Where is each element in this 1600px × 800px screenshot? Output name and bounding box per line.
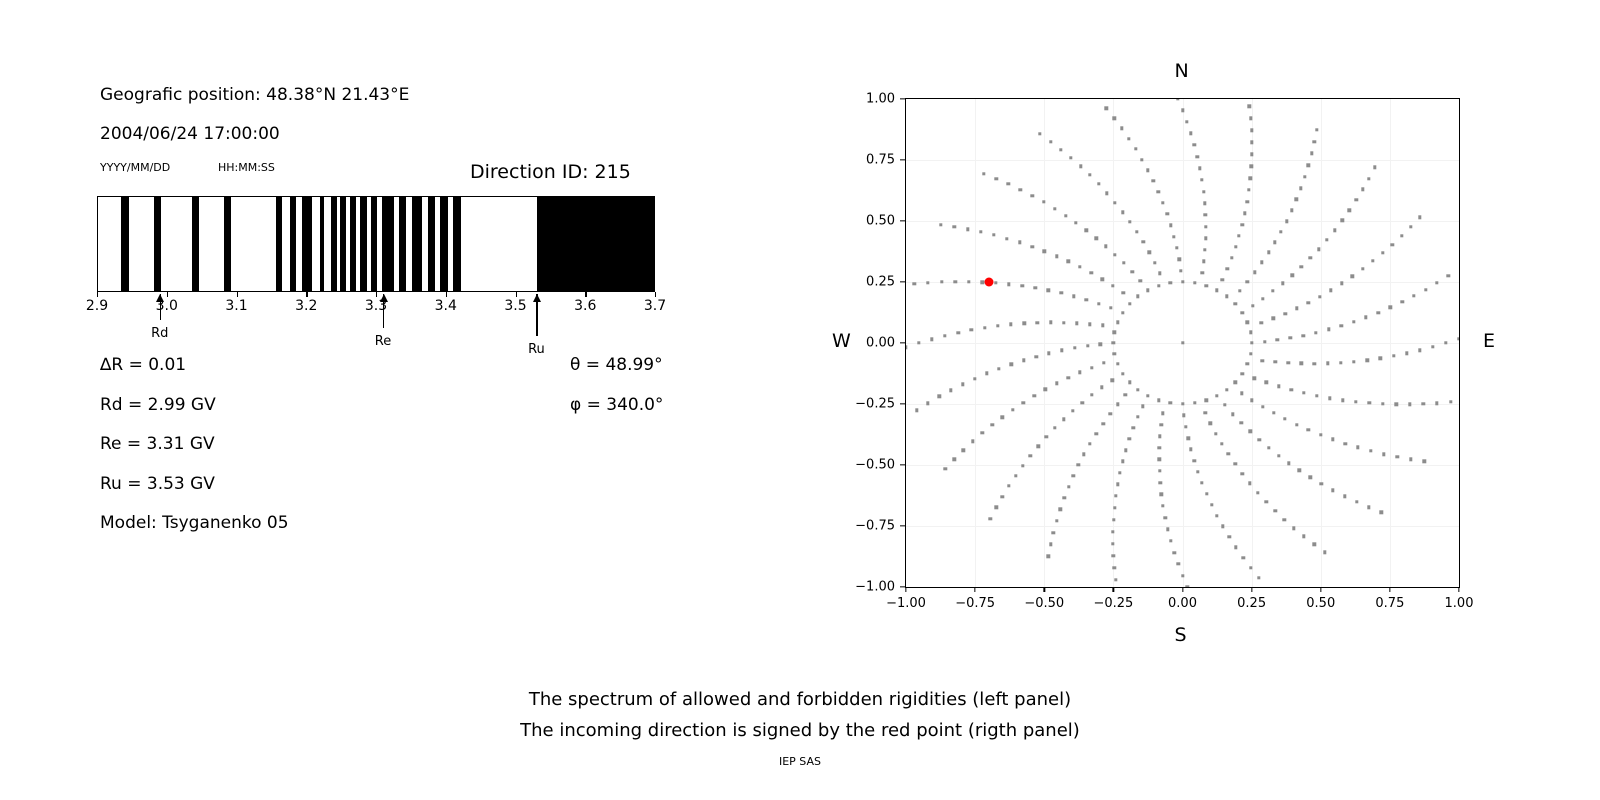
direction-sample-dot xyxy=(1157,284,1160,287)
direction-sample-dot xyxy=(1238,289,1241,292)
direction-sample-dot xyxy=(1086,344,1089,347)
direction-sample-dot xyxy=(1127,137,1130,140)
direction-sample-dot xyxy=(1267,446,1270,449)
polar-y-tick-label: 0.00 xyxy=(820,336,895,351)
datetime-label: 2004/06/24 17:00:00 xyxy=(100,124,280,144)
direction-sample-dot xyxy=(1284,312,1287,315)
direction-sample-dot xyxy=(1352,360,1355,363)
direction-sample-dot xyxy=(1263,340,1266,343)
direction-sample-dot xyxy=(1249,176,1252,179)
direction-sample-dot xyxy=(1313,140,1316,143)
direction-sample-dot xyxy=(1418,349,1421,352)
direction-sample-dot xyxy=(1161,504,1164,507)
direction-sample-dot xyxy=(1243,211,1246,214)
direction-sample-dot xyxy=(1237,234,1240,237)
direction-sample-dot xyxy=(1059,291,1062,294)
direction-sample-dot xyxy=(1291,274,1294,277)
direction-sample-dot xyxy=(1302,391,1305,394)
direction-sample-dot xyxy=(1215,514,1218,517)
direction-sample-dot xyxy=(1072,295,1075,298)
polar-x-tick-mark xyxy=(905,587,906,592)
direction-sample-dot xyxy=(1210,503,1213,506)
direction-sample-dot xyxy=(1302,535,1305,538)
direction-sample-dot xyxy=(1116,403,1119,406)
polar-x-tick-label: 0.25 xyxy=(1237,596,1266,611)
forbidden-band xyxy=(382,197,394,291)
direction-sample-dot xyxy=(1181,341,1184,344)
direction-sample-dot xyxy=(1114,494,1117,497)
direction-sample-dot xyxy=(1248,430,1251,433)
direction-sample-dot xyxy=(1067,485,1070,488)
direction-sample-dot xyxy=(1367,177,1370,180)
direction-sample-dot xyxy=(1265,381,1268,384)
figure-caption: The spectrum of allowed and forbidden ri… xyxy=(0,684,1600,746)
direction-sample-dot xyxy=(1315,394,1318,397)
direction-sample-dot xyxy=(1074,221,1077,224)
direction-sample-dot xyxy=(1169,281,1172,284)
direction-sample-dot xyxy=(979,230,982,233)
forbidden-band xyxy=(154,197,161,291)
direction-sample-dot xyxy=(1204,284,1207,287)
direction-sample-dot xyxy=(1258,438,1261,441)
caption-line-1: The spectrum of allowed and forbidden ri… xyxy=(0,684,1600,715)
direction-sample-dot xyxy=(1261,405,1264,408)
delta-r-value: ∆R = 0.01 xyxy=(100,355,186,375)
direction-sample-dot xyxy=(994,177,997,180)
direction-sample-dot xyxy=(1203,202,1206,205)
direction-sample-dot xyxy=(991,423,994,426)
direction-sample-dot xyxy=(1159,481,1162,484)
direction-sample-dot xyxy=(1205,492,1208,495)
ru-value: Ru = 3.53 GV xyxy=(100,474,215,494)
direction-sample-dot xyxy=(1113,506,1116,509)
direction-sample-dot xyxy=(1246,320,1249,323)
forbidden-band xyxy=(412,197,422,291)
direction-sample-dot xyxy=(1196,155,1199,158)
polar-y-tick-mark xyxy=(900,98,905,99)
direction-sample-dot xyxy=(1250,141,1253,144)
direction-sample-dot xyxy=(992,233,995,236)
forbidden-band xyxy=(350,197,356,291)
direction-sample-dot xyxy=(1381,251,1384,254)
direction-sample-dot xyxy=(1036,444,1039,447)
direction-sample-dot xyxy=(1202,190,1205,193)
direction-sample-dot xyxy=(1053,207,1056,210)
direction-sample-dot xyxy=(1271,289,1274,292)
axis-tick-mark xyxy=(376,292,377,297)
direction-sample-dot xyxy=(1209,422,1212,425)
polar-y-tick-mark xyxy=(900,342,905,343)
forbidden-band xyxy=(371,197,377,291)
direction-sample-dot xyxy=(1021,464,1024,467)
direction-sample-dot xyxy=(1044,388,1047,391)
direction-sample-dot xyxy=(1109,412,1112,415)
direction-sample-dot xyxy=(1011,408,1014,411)
re-value: Re = 3.31 GV xyxy=(100,434,215,454)
direction-sample-dot xyxy=(1163,516,1166,519)
direction-sample-dot xyxy=(1289,336,1292,339)
direction-sample-dot xyxy=(1307,428,1310,431)
direction-sample-dot xyxy=(1010,363,1013,366)
direction-sample-dot xyxy=(1356,446,1359,449)
direction-sample-dot xyxy=(1260,261,1263,264)
direction-sample-dot xyxy=(1276,338,1279,341)
direction-sample-dot xyxy=(1196,470,1199,473)
direction-sample-dot xyxy=(1286,361,1289,364)
direction-sample-dot xyxy=(1204,237,1207,240)
direction-sample-dot xyxy=(1285,220,1288,223)
date-format-hint: YYYY/MM/DD xyxy=(100,161,170,174)
polar-x-tick-label: −0.50 xyxy=(1024,596,1064,611)
direction-sample-dot xyxy=(1077,463,1080,466)
polar-x-tick-mark xyxy=(1320,587,1321,592)
forbidden-band xyxy=(320,197,325,291)
polar-x-tick-label: 0.75 xyxy=(1375,596,1404,611)
direction-sample-dot xyxy=(997,367,1000,370)
polar-y-tick-label: 0.50 xyxy=(820,214,895,229)
direction-sample-dot xyxy=(1034,286,1037,289)
rigidity-marker-arrow-rd xyxy=(160,294,161,320)
direction-sample-dot xyxy=(1292,526,1295,529)
forbidden-band xyxy=(428,197,435,291)
direction-sample-dot xyxy=(915,409,918,412)
direction-sample-dot xyxy=(953,225,956,228)
direction-sample-dot xyxy=(944,467,947,470)
direction-sample-dot xyxy=(1158,469,1161,472)
direction-sample-dot xyxy=(1035,355,1038,358)
direction-sample-dot xyxy=(1049,321,1052,324)
direction-sample-dot xyxy=(1231,412,1234,415)
forbidden-band xyxy=(192,197,199,291)
direction-sample-dot xyxy=(1279,230,1282,233)
direction-sample-dot xyxy=(1257,576,1260,579)
direction-sample-dot xyxy=(1323,550,1326,553)
direction-sample-dot xyxy=(1394,403,1397,406)
direction-sample-dot xyxy=(1193,401,1196,404)
axis-tick-label: 3.6 xyxy=(574,298,596,314)
direction-sample-dot xyxy=(1169,401,1172,404)
direction-sample-dot xyxy=(1111,284,1114,287)
direction-sample-dot xyxy=(1249,566,1252,569)
axis-tick-mark xyxy=(655,292,656,297)
direction-sample-dot xyxy=(1158,446,1161,449)
direction-sample-dot xyxy=(1176,98,1179,101)
polar-y-tick-label: 1.00 xyxy=(820,92,895,107)
direction-sample-dot xyxy=(1373,166,1376,169)
direction-sample-dot xyxy=(1248,482,1251,485)
direction-sample-dot xyxy=(1295,423,1298,426)
rigidity-marker-arrow-ru xyxy=(536,294,537,336)
direction-sample-dot xyxy=(1283,518,1286,521)
direction-sample-dot xyxy=(1234,245,1237,248)
direction-sample-dot xyxy=(1241,556,1244,559)
direction-sample-dot xyxy=(1157,190,1160,193)
direction-sample-dot xyxy=(1318,295,1321,298)
direction-sample-dot xyxy=(1352,320,1355,323)
direction-sample-dot xyxy=(1128,302,1131,305)
direction-sample-dot xyxy=(1186,585,1189,588)
polar-x-tick-label: 1.00 xyxy=(1445,596,1474,611)
direction-sample-dot xyxy=(1114,578,1117,581)
direction-sample-dot xyxy=(1101,324,1104,327)
direction-sample-dot xyxy=(943,334,946,337)
direction-sample-dot xyxy=(1307,301,1310,304)
direction-sample-dot xyxy=(1113,253,1116,256)
polar-x-tick-mark xyxy=(1251,587,1252,592)
direction-sample-dot xyxy=(1325,238,1328,241)
direction-sample-dot xyxy=(1116,483,1119,486)
direction-sample-dot xyxy=(1007,484,1010,487)
direction-sample-dot xyxy=(1283,417,1286,420)
direction-sample-dot xyxy=(1400,234,1403,237)
direction-sample-dot xyxy=(1333,229,1336,232)
direction-sample-dot xyxy=(1361,188,1364,191)
direction-sample-dot xyxy=(1055,519,1058,522)
direction-sample-dot xyxy=(1169,224,1172,227)
axis-tick-label: 3.5 xyxy=(504,298,526,314)
direction-sample-dot xyxy=(1317,247,1320,250)
direction-sample-dot xyxy=(1371,259,1374,262)
direction-sample-dot xyxy=(1095,432,1098,435)
polar-y-tick-mark xyxy=(900,281,905,282)
rigidity-spectrum-panel: Geografic position: 48.38°N 21.43°E 2004… xyxy=(0,0,760,640)
direction-sample-dot xyxy=(1090,366,1093,369)
direction-sample-dot xyxy=(1014,474,1017,477)
direction-sample-dot xyxy=(1079,165,1082,168)
model-value: Model: Tsyganenko 05 xyxy=(100,513,289,533)
direction-sample-dot xyxy=(1368,401,1371,404)
axis-tick-label: 3.4 xyxy=(435,298,457,314)
direction-sample-dot xyxy=(1298,469,1301,472)
forbidden-band xyxy=(537,197,655,291)
direction-sample-dot xyxy=(1422,402,1425,405)
direction-sample-dot xyxy=(1189,448,1192,451)
direction-sample-dot xyxy=(1088,322,1091,325)
direction-sample-dot xyxy=(1088,173,1091,176)
direction-sample-dot xyxy=(1405,352,1408,355)
direction-sample-dot xyxy=(1045,435,1048,438)
direction-sample-dot xyxy=(1146,394,1149,397)
polar-x-tick-label: −0.25 xyxy=(1093,596,1133,611)
direction-sample-dot xyxy=(953,458,956,461)
caption-line-2: The incoming direction is signed by the … xyxy=(0,715,1600,746)
direction-sample-dot xyxy=(926,401,929,404)
direction-sample-dot xyxy=(1124,448,1127,451)
direction-sample-dot xyxy=(1392,354,1395,357)
direction-sample-dot xyxy=(1382,452,1385,455)
time-format-hint: HH:MM:SS xyxy=(218,161,275,174)
direction-sample-dot xyxy=(1160,493,1163,496)
direction-sample-dot xyxy=(1186,436,1189,439)
polar-x-tick-label: −0.75 xyxy=(955,596,995,611)
direction-sample-dot xyxy=(1134,147,1137,150)
direction-sample-dot xyxy=(940,280,943,283)
direction-sample-dot xyxy=(1408,403,1411,406)
direction-sample-dot xyxy=(1136,295,1139,298)
polar-x-tick-mark xyxy=(1044,587,1045,592)
direction-sample-dot xyxy=(1424,288,1427,291)
direction-sample-dot xyxy=(1097,182,1100,185)
direction-sample-dot xyxy=(1158,272,1161,275)
direction-sample-dot xyxy=(1113,331,1116,334)
direction-sample-dot xyxy=(1457,337,1460,340)
direction-sample-dot xyxy=(1250,129,1253,132)
gridline-horizontal xyxy=(906,221,1459,222)
direction-sample-dot xyxy=(1090,271,1093,274)
direction-sample-dot xyxy=(1251,304,1254,307)
direction-sample-dot xyxy=(1042,200,1045,203)
direction-sample-dot xyxy=(1234,302,1237,305)
axis-tick-label: 3.1 xyxy=(225,298,247,314)
direction-sample-dot xyxy=(1265,500,1268,503)
direction-sample-dot xyxy=(1300,265,1303,268)
direction-sample-dot xyxy=(1435,401,1438,404)
direction-sample-dot xyxy=(1009,323,1012,326)
direction-sample-dot xyxy=(1023,322,1026,325)
direction-sample-dot xyxy=(1355,500,1358,503)
axis-tick-label: 3.7 xyxy=(644,298,666,314)
direction-sample-dot xyxy=(1435,281,1438,284)
direction-sample-dot xyxy=(1111,530,1114,533)
compass-south-label: S xyxy=(1175,624,1187,646)
direction-sample-dot xyxy=(1088,442,1091,445)
direction-sample-dot xyxy=(1221,278,1224,281)
direction-sample-dot xyxy=(949,388,952,391)
direction-sample-dot xyxy=(1059,148,1062,151)
polar-y-tick-mark xyxy=(900,159,905,160)
direction-sample-dot xyxy=(1018,241,1021,244)
direction-sample-dot xyxy=(1062,321,1065,324)
phi-value: φ = 340.0° xyxy=(570,395,663,415)
direction-sample-dot xyxy=(1215,288,1218,291)
axis-tick-label: 2.9 xyxy=(86,298,108,314)
direction-sample-dot xyxy=(1136,415,1139,418)
direction-sample-dot xyxy=(1121,372,1124,375)
direction-sample-dot xyxy=(966,227,969,230)
direction-sample-dot xyxy=(1272,411,1275,414)
direction-sample-dot xyxy=(1085,298,1088,301)
direction-sample-dot xyxy=(1308,256,1311,259)
direction-sample-dot xyxy=(1113,352,1116,355)
direction-sample-dot xyxy=(973,377,976,380)
rigidity-marker-label-ru: Ru xyxy=(528,342,545,357)
direction-sample-dot xyxy=(1320,482,1323,485)
direction-sample-dot xyxy=(1344,442,1347,445)
direction-sample-dot xyxy=(1058,508,1061,511)
polar-x-tick-label: 0.00 xyxy=(1168,596,1197,611)
direction-sample-dot xyxy=(1250,341,1253,344)
direction-sample-dot xyxy=(1110,379,1113,382)
direction-sample-dot xyxy=(1354,400,1357,403)
direction-sample-dot xyxy=(1075,321,1078,324)
direction-sample-dot xyxy=(1315,128,1318,131)
direction-sample-dot xyxy=(1331,438,1334,441)
forbidden-band xyxy=(440,197,448,291)
direction-sample-dot xyxy=(1240,421,1243,424)
direction-sample-dot xyxy=(1287,461,1290,464)
direction-sample-dot xyxy=(994,506,997,509)
axis-tick-label: 3.2 xyxy=(295,298,317,314)
direction-sample-dot xyxy=(1250,153,1253,156)
incoming-direction-marker xyxy=(984,278,993,287)
direction-sample-dot xyxy=(1256,491,1259,494)
direction-sample-dot xyxy=(1052,531,1055,534)
direction-sample-dot xyxy=(1128,220,1131,223)
direction-sample-dot xyxy=(962,449,965,452)
direction-sample-dot xyxy=(1128,437,1131,440)
direction-sample-dot xyxy=(1090,393,1093,396)
direction-sample-dot xyxy=(1139,279,1142,282)
direction-sample-dot xyxy=(1030,194,1033,197)
rd-value: Rd = 2.99 GV xyxy=(100,395,216,415)
direction-sample-dot xyxy=(1120,127,1123,130)
direction-sample-dot xyxy=(1047,555,1050,558)
axis-tick-mark xyxy=(306,292,307,297)
direction-sample-dot xyxy=(1273,360,1276,363)
direction-sample-dot xyxy=(1185,120,1188,123)
direction-sample-dot xyxy=(1234,381,1237,384)
direction-sample-dot xyxy=(994,281,997,284)
axis-tick-mark xyxy=(237,292,238,297)
direction-sample-dot xyxy=(1246,362,1249,365)
direction-sample-dot xyxy=(1381,402,1384,405)
direction-sample-dot xyxy=(1228,535,1231,538)
direction-sample-dot xyxy=(1189,132,1192,135)
rigidity-spectrum-chart xyxy=(97,196,655,292)
direction-sample-dot xyxy=(1220,442,1223,445)
direction-sample-dot xyxy=(1047,289,1050,292)
direction-sample-dot xyxy=(1005,237,1008,240)
direction-sample-dot xyxy=(1112,518,1115,521)
direction-sample-dot xyxy=(1072,474,1075,477)
direction-sample-dot xyxy=(1001,495,1004,498)
direction-sample-dot xyxy=(1175,246,1178,249)
axis-tick-mark xyxy=(446,292,447,297)
direction-sample-dot xyxy=(1449,400,1452,403)
direction-sample-dot xyxy=(1290,388,1293,391)
polar-x-tick-mark xyxy=(1389,587,1390,592)
direction-sample-dot xyxy=(1202,260,1205,263)
direction-sample-dot xyxy=(1260,359,1263,362)
direction-sample-dot xyxy=(1031,245,1034,248)
direction-sample-dot xyxy=(1274,509,1277,512)
direction-sample-dot xyxy=(1102,361,1105,364)
direction-sample-dot xyxy=(1447,274,1450,277)
direction-sample-dot xyxy=(1200,178,1203,181)
direction-sample-dot xyxy=(1064,214,1067,217)
direction-sample-dot xyxy=(954,280,957,283)
direction-sample-dot xyxy=(1377,311,1380,314)
direction-sample-dot xyxy=(1240,392,1243,395)
direction-sample-dot xyxy=(1329,288,1332,291)
direction-sample-dot xyxy=(1250,165,1253,168)
direction-sample-dot xyxy=(1140,158,1143,161)
direction-sample-dot xyxy=(1099,343,1102,346)
spectrum-plot-area xyxy=(97,196,655,292)
direction-sample-dot xyxy=(1132,426,1135,429)
direction-sample-dot xyxy=(1121,311,1124,314)
direction-sample-dot xyxy=(1121,211,1124,214)
direction-sample-dot xyxy=(1181,402,1184,405)
forbidden-band xyxy=(302,197,312,291)
direction-sample-dot xyxy=(1225,295,1228,298)
direction-sample-dot xyxy=(1141,405,1144,408)
direction-sample-dot xyxy=(1192,459,1195,462)
direction-sample-dot xyxy=(1121,460,1124,463)
direction-sample-dot xyxy=(1193,281,1196,284)
direction-sample-dot xyxy=(1328,396,1331,399)
direction-sample-dot xyxy=(1152,179,1155,182)
